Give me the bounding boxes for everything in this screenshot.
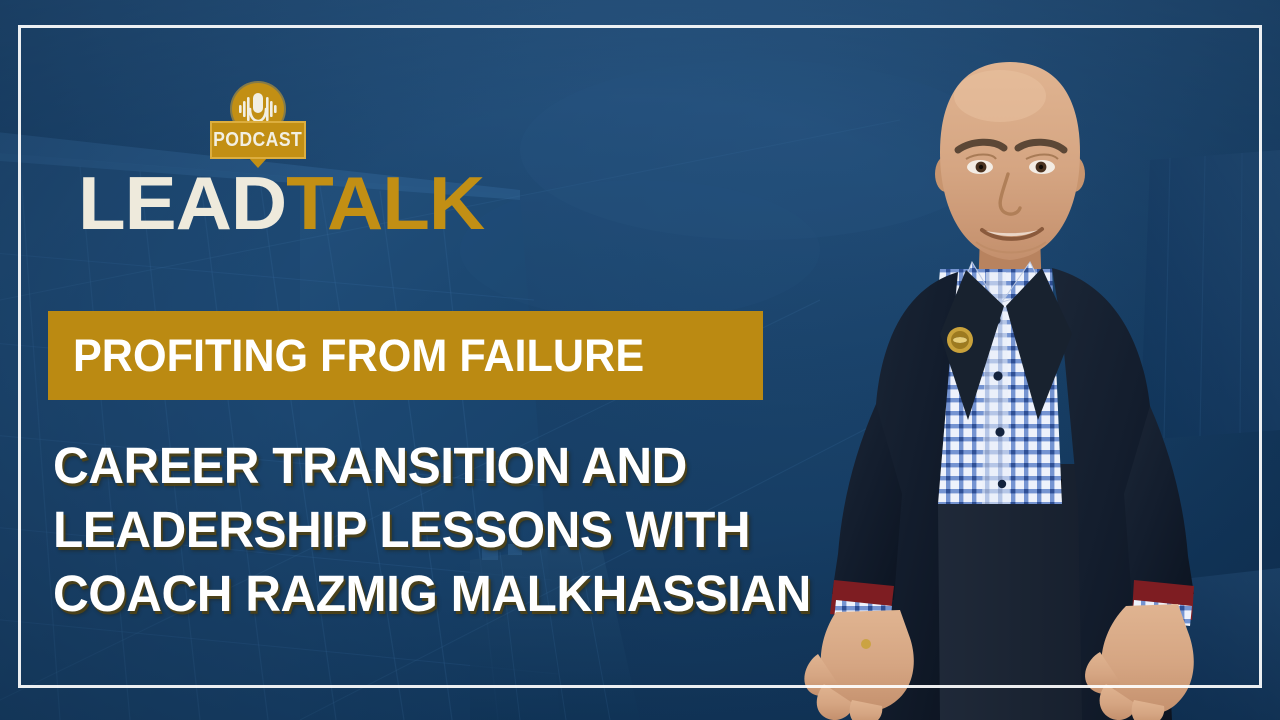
logo-talk-text: TALK [286,161,484,245]
episode-title: CAREER TRANSITION AND LEADERSHIP LESSONS… [53,434,933,626]
episode-title-line-2: LEADERSHIP LESSONS WITH [53,498,907,562]
podcast-thumbnail: PODCAST LEADTALK PROFITING FROM FAILURE … [0,0,1280,720]
podcast-badge-label: PODCAST [213,130,302,150]
lapel-pin [947,327,973,353]
leadtalk-logo: LEADTALK [78,166,484,241]
episode-topic-label: PROFITING FROM FAILURE [48,333,644,378]
logo-lead-text: LEAD [78,161,286,245]
badge-ribbon: PODCAST [210,121,306,159]
episode-title-line-3: COACH RAZMIG MALKHASSIAN [53,562,907,626]
episode-title-line-1: CAREER TRANSITION AND [53,434,907,498]
episode-topic-banner: PROFITING FROM FAILURE [48,311,763,400]
